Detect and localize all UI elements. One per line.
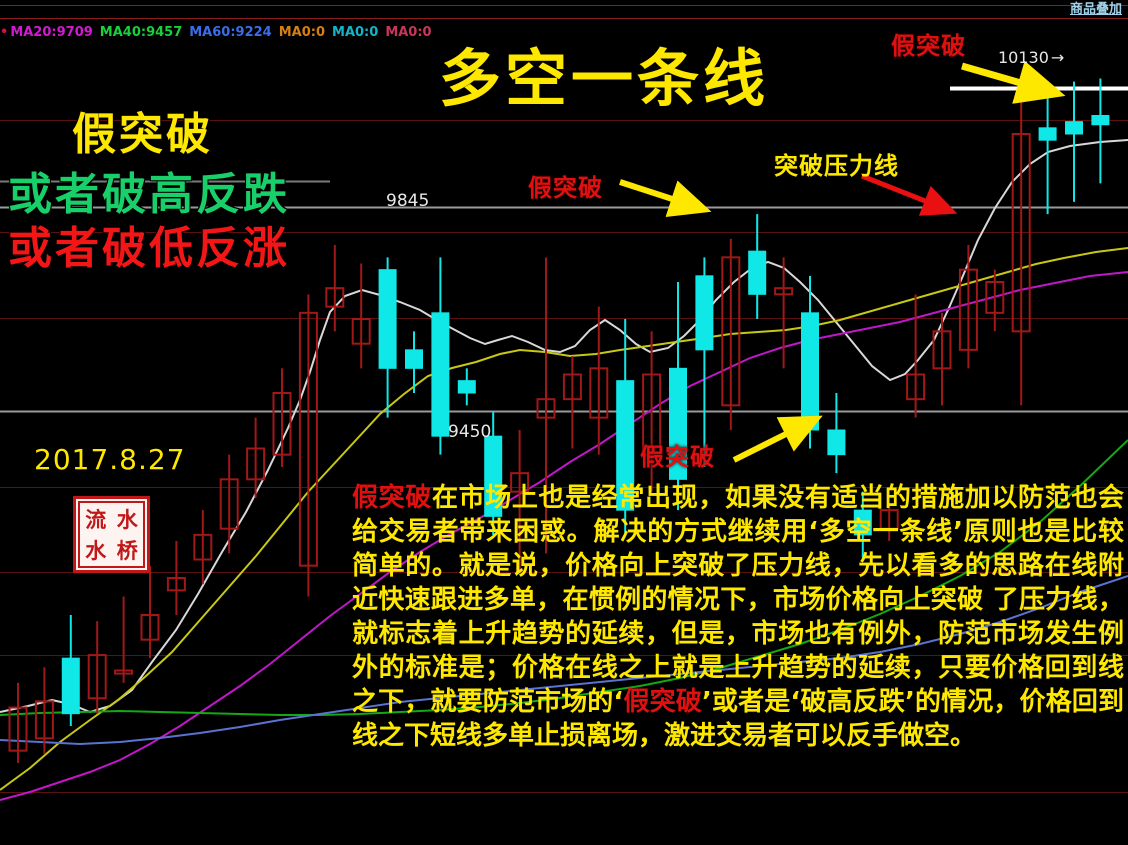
caption-fake-breakout: 假突破 <box>72 98 213 162</box>
candle-body <box>458 381 475 393</box>
right-arrow-icon: → <box>1051 48 1064 67</box>
candle-body <box>802 313 819 430</box>
annotation-pressure-line: 突破压力线 <box>774 146 899 181</box>
trading-chart-screenshot: •MA20:9709MA40:9457MA60:9224MA0:0MA0:0MA… <box>0 0 1128 845</box>
date-label: 2017.8.27 <box>34 443 186 476</box>
annotation-fake-breakout-middle: 假突破 <box>528 168 603 203</box>
annotation-fake-breakout-top: 假突破 <box>891 26 966 61</box>
legend-bullet-icon: • <box>0 25 8 40</box>
candle-body <box>828 430 845 455</box>
commentary-paragraph: 假突破在市场上也是经常出现，如果没有适当的措施加以防范也会给交易者带来困惑。解决… <box>352 481 1124 753</box>
candle-body <box>1092 116 1109 125</box>
price-label-9450: 9450 <box>448 422 491 442</box>
seal-inner: 流 水 水 桥 <box>78 501 145 568</box>
author-seal: 流 水 水 桥 <box>73 496 150 573</box>
page-title: 多空一条线 <box>404 28 804 118</box>
arrow-fake-low <box>734 421 812 460</box>
ma-legend-item-ma40: MA40:9457 <box>100 25 182 40</box>
candle-body <box>62 658 79 714</box>
ma-legend-item-ma20: MA20:9709 <box>10 25 92 40</box>
candle-body <box>1039 128 1056 140</box>
caption-break-low-rise: 或者破低反涨 <box>8 212 290 276</box>
candle-body <box>749 251 766 294</box>
top-divider-1 <box>0 5 1128 6</box>
candle-body <box>696 276 713 350</box>
ma-legend: •MA20:9709MA40:9457MA60:9224MA0:0MA0:0MA… <box>0 24 439 42</box>
candle-body <box>1066 122 1083 134</box>
paragraph-highlight-2: 假突破 <box>623 687 702 717</box>
arrow-fake-mid <box>620 182 700 208</box>
price-10130-value: 10130 <box>998 48 1049 67</box>
annotation-fake-breakout-lower: 假突破 <box>640 437 715 472</box>
ma-legend-item-ma0-a: MA0:0 <box>279 25 325 40</box>
arrow-pressure <box>862 176 948 210</box>
ma-legend-item-ma0-b: MA0:0 <box>332 25 378 40</box>
seal-char-1: 流 <box>80 503 112 535</box>
price-label-10130: 10130→ <box>998 48 1064 67</box>
seal-char-2: 水 <box>112 503 144 535</box>
seal-char-4: 桥 <box>112 535 144 567</box>
ma-legend-item-ma60: MA60:9224 <box>189 25 271 40</box>
candle-body <box>379 270 396 369</box>
paragraph-body-1: 在市场上也是经常出现，如果没有适当的措施加以防范也会给交易者带来困惑。解决的方式… <box>352 483 1124 717</box>
overlay-button[interactable]: 商品叠加 <box>1070 2 1122 18</box>
price-label-9845: 9845 <box>386 191 429 211</box>
top-divider-2 <box>0 18 1128 19</box>
seal-char-3: 水 <box>80 535 112 567</box>
candle-body <box>406 350 423 369</box>
candle-body <box>432 313 449 436</box>
paragraph-highlight-1: 假突破 <box>352 483 432 513</box>
